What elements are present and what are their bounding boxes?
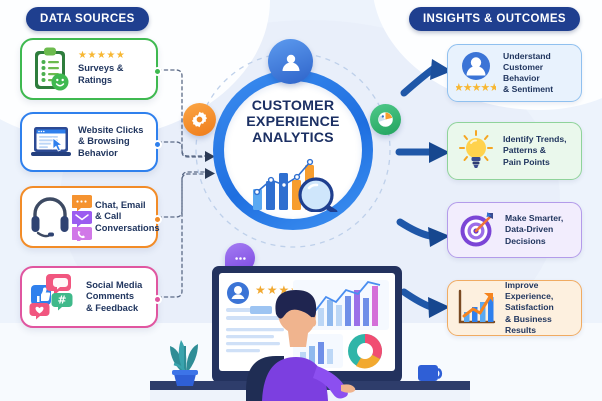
analyst-at-desk-illustration: ★★★★ [150,252,470,401]
outcome-trends-line1: Identify Trends, [503,134,567,145]
data-source-surveys-line1: Surveys & [78,63,125,75]
data-source-card-surveys-ratings[interactable]: ★★★★★ Surveys & Ratings [20,38,158,100]
outcome-trends-line3: Pain Points [503,157,567,168]
hub-satellite-pie-chart-icon[interactable] [370,104,401,135]
outcome-understand-line1: Understand [503,51,573,62]
outcome-user-avatar-icon: ★★★★★ [456,49,496,97]
outcome-understand-line2: Customer Behavior [503,62,573,84]
data-source-card-social-media[interactable]: # Social Media Comments & Feedback [20,266,158,328]
connector-node-chat [153,215,162,224]
section-header-data-sources-label: DATA SOURCES [40,13,135,25]
outcome-card-identify-trends[interactable]: Identify Trends, Patterns & Pain Points [447,122,582,180]
hub-satellite-gear-icon[interactable] [183,103,216,136]
section-header-insights-outcomes: INSIGHTS & OUTCOMES [409,7,580,31]
outcome-understand-line3: & Sentiment [503,84,573,95]
coffee-mug [418,365,441,381]
clipboard-checklist-icon [29,45,73,93]
social-reactions-icon: # [29,272,81,322]
outcome-decisions-line1: Make Smarter, [505,213,563,224]
outcome-decisions-text: Make Smarter, Data-Driven Decisions [505,213,563,247]
hub-title-line1: CUSTOMER [213,98,373,114]
data-source-website-line3: Behavior [78,148,143,160]
data-source-chat-line1: Chat, Email [95,200,160,212]
section-header-insights-outcomes-label: INSIGHTS & OUTCOMES [423,13,566,25]
data-source-chat-line3: Conversations [95,223,160,235]
outcome-trends-text: Identify Trends, Patterns & Pain Points [503,134,567,168]
data-source-card-website-clicks[interactable]: Website Clicks & Browsing Behavior [20,112,158,172]
svg-text:#: # [57,294,66,307]
svg-text:★★★★★: ★★★★★ [456,81,496,94]
hub-analytics-chart-icon [247,156,343,212]
outcome-improve-line3: & Business Results [505,314,573,336]
message-bubbles-stack-icon [72,193,92,241]
data-source-surveys-line2: Ratings [78,75,125,87]
headset-icon [29,194,71,240]
data-source-website-text: Website Clicks & Browsing Behavior [78,125,143,160]
outcome-trends-line2: Patterns & [503,145,567,156]
outcome-decisions-line3: Decisions [505,236,563,247]
data-source-social-line2: Comments [86,291,142,303]
hub-title: CUSTOMER EXPERIENCE ANALYTICS [213,98,373,146]
desk-plant [170,340,198,386]
data-source-website-line2: & Browsing [78,136,143,148]
data-source-social-line3: & Feedback [86,303,142,315]
laptop-cursor-icon [29,120,73,164]
data-source-social-text: Social Media Comments & Feedback [86,280,142,315]
survey-star-rating: ★★★★★ [78,51,125,61]
connector-node-surveys [153,67,162,76]
hub-title-line3: ANALYTICS [213,130,373,146]
outcome-decisions-line2: Data-Driven [505,224,563,235]
data-source-surveys-text: ★★★★★ Surveys & Ratings [78,51,125,86]
data-source-chat-text: Chat, Email & Call Conversations [95,200,160,235]
outcome-improve-line1: Improve Experience, [505,280,573,302]
data-source-card-chat-email-call[interactable]: Chat, Email & Call Conversations [20,186,158,248]
outcome-card-smarter-decisions[interactable]: Make Smarter, Data-Driven Decisions [447,202,582,258]
data-source-website-line1: Website Clicks [78,125,143,137]
hub-satellite-user-avatar-icon[interactable] [268,39,313,84]
target-dart-icon [456,209,498,251]
outcome-understand-text: Understand Customer Behavior & Sentiment [503,51,573,96]
connector-node-website [153,140,162,149]
outcome-card-understand-behavior[interactable]: ★★★★★ Understand Customer Behavior & Sen… [447,44,582,102]
hub-title-line2: EXPERIENCE [213,114,373,130]
central-hub: CUSTOMER EXPERIENCE ANALYTICS [213,70,373,230]
outcome-improve-line2: Satisfaction [505,302,573,313]
data-source-chat-line2: & Call [95,211,160,223]
lightbulb-icon [456,129,496,173]
outcome-improve-text: Improve Experience, Satisfaction & Busin… [505,280,573,336]
data-source-social-line1: Social Media [86,280,142,292]
section-header-data-sources: DATA SOURCES [26,7,149,31]
infographic-canvas: DATA SOURCES INSIGHTS & OUTCOMES [0,0,602,401]
